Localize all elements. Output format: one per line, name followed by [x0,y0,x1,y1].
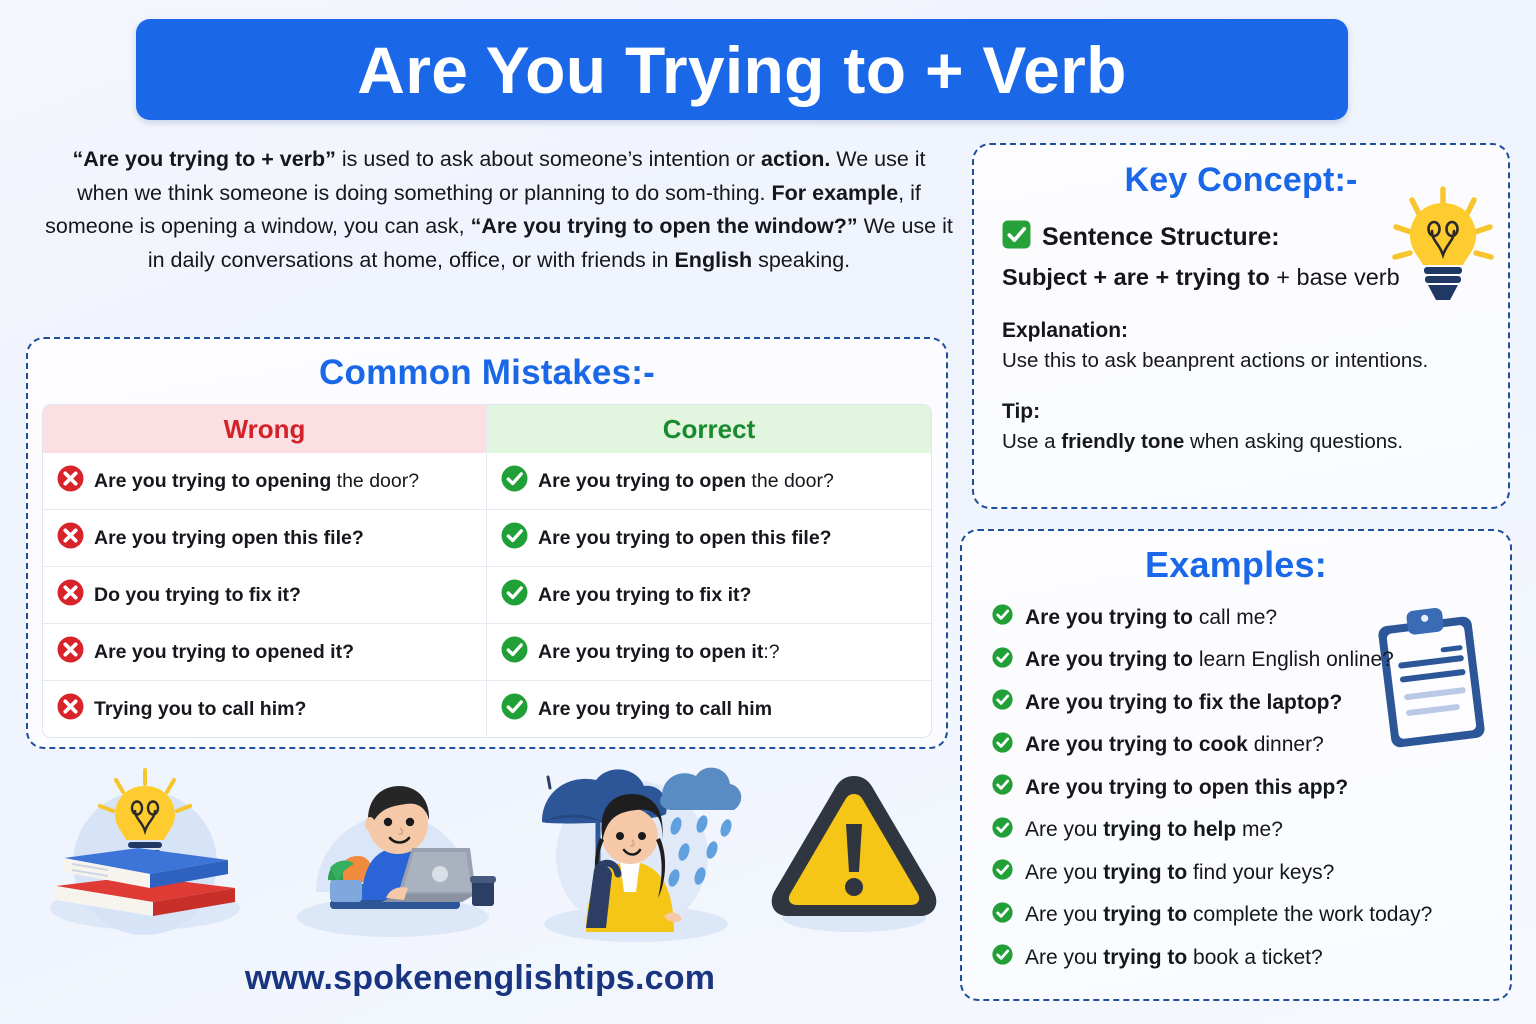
examples-list: Are you trying to call me?Are you trying… [992,596,1510,979]
example-sentence: Are you trying to help me? [1025,817,1283,842]
correct-sentence: Are you trying to open the door? [538,469,834,493]
green-check-icon [992,944,1013,970]
tip-label: Tip: [1002,400,1482,424]
sentence-structure-formula: Subject + are + trying to + base verb [1002,262,1482,293]
correct-sentence: Are you trying to call him [538,697,772,721]
table-cell-correct: Are you trying to fix it? [487,567,931,623]
person-at-laptop-illustration [286,752,501,947]
correct-column-label: Correct [663,414,755,445]
correct-sentence: Are you trying to open this file? [538,526,832,550]
red-cross-icon [57,636,84,668]
explanation-text: Use this to ask beanprent actions or int… [1002,348,1482,375]
table-row: Are you trying open this file?Are you tr… [43,509,931,566]
green-check-icon [992,774,1013,800]
example-sentence: Are you trying to open this app? [1025,775,1348,800]
green-check-icon [992,647,1013,673]
list-item: Are you trying to complete the work toda… [992,894,1510,937]
footer-website-url: www.spokenenglishtips.com [0,959,960,998]
books-with-lightbulb-illustration [38,758,253,943]
red-cross-icon [57,579,84,611]
common-mistakes-panel: Common Mistakes:- Wrong Correct Are you … [26,337,948,749]
example-sentence: Are you trying to cook dinner? [1025,732,1324,757]
green-check-icon [992,732,1013,758]
page-title: Are You Trying to + Verb [357,32,1126,108]
example-sentence: Are you trying to call me? [1025,605,1277,630]
wrong-sentence: Are you trying to opened it? [94,640,354,664]
list-item: Are you trying to call me? [992,596,1510,639]
list-item: Are you trying to learn English online? [992,639,1510,682]
list-item: Are you trying to cook dinner? [992,724,1510,767]
green-check-icon [992,689,1013,715]
wrong-sentence: Do you trying to fix it? [94,583,301,607]
green-check-icon [992,902,1013,928]
examples-heading: Examples: [962,544,1510,586]
list-item: Are you trying to book a ticket? [992,936,1510,979]
table-header-row: Wrong Correct [43,405,931,453]
red-cross-icon [57,693,84,725]
wrong-sentence: Trying you to call him? [94,697,306,721]
table-cell-correct: Are you trying to open the door? [487,453,931,509]
mistakes-table-body: Are you trying to opening the door?Are y… [43,453,931,737]
correct-sentence: Are you trying to open it:? [538,640,780,664]
green-check-icon [501,465,528,497]
tip-text: Use a friendly tone when asking question… [1002,429,1482,456]
table-header-correct: Correct [487,405,931,453]
example-sentence: Are you trying to find your keys? [1025,860,1334,885]
green-check-icon [992,817,1013,843]
wrong-sentence: Are you trying to opening the door? [94,469,419,493]
green-check-icon [501,693,528,725]
key-concept-panel: Key Concept:- [972,143,1510,509]
table-header-wrong: Wrong [43,405,487,453]
intro-paragraph: “Are you trying to + verb” is used to as… [44,143,954,277]
table-cell-correct: Are you trying to open it:? [487,624,931,680]
table-row: Trying you to call him?Are you trying to… [43,680,931,737]
table-cell-wrong: Are you trying open this file? [43,510,487,566]
table-cell-correct: Are you trying to call him [487,681,931,737]
common-mistakes-heading: Common Mistakes:- [28,353,946,393]
warning-triangle-illustration [766,766,941,939]
green-check-icon [992,859,1013,885]
sentence-structure-label: Sentence Structure: [1042,223,1280,252]
green-check-square-icon [1002,220,1031,254]
example-sentence: Are you trying to book a ticket? [1025,945,1323,970]
table-cell-wrong: Are you trying to opening the door? [43,453,487,509]
girl-with-umbrella-rain-illustration [524,752,749,952]
green-check-icon [992,604,1013,630]
table-row: Do you trying to fix it?Are you trying t… [43,566,931,623]
green-check-icon [501,522,528,554]
infographic-page: Are You Trying to + Verb “Are you trying… [0,0,1536,1024]
table-cell-wrong: Do you trying to fix it? [43,567,487,623]
table-cell-wrong: Are you trying to opened it? [43,624,487,680]
wrong-column-label: Wrong [224,414,306,445]
title-banner: Are You Trying to + Verb [136,19,1348,120]
sentence-structure-row: Sentence Structure: [1002,220,1482,254]
correct-sentence: Are you trying to fix it? [538,583,751,607]
red-cross-icon [57,465,84,497]
green-check-icon [501,636,528,668]
explanation-label: Explanation: [1002,319,1482,343]
list-item: Are you trying to fix the laptop? [992,681,1510,724]
table-cell-wrong: Trying you to call him? [43,681,487,737]
table-cell-correct: Are you trying to open this file? [487,510,931,566]
list-item: Are you trying to open this app? [992,766,1510,809]
example-sentence: Are you trying to fix the laptop? [1025,690,1342,715]
mistakes-table: Wrong Correct Are you trying to opening … [42,404,932,738]
red-cross-icon [57,522,84,554]
list-item: Are you trying to help me? [992,809,1510,852]
example-sentence: Are you trying to learn English online? [1025,647,1394,672]
list-item: Are you trying to find your keys? [992,851,1510,894]
key-concept-body: Sentence Structure: Subject + are + tryi… [974,200,1508,456]
table-row: Are you trying to opened it?Are you tryi… [43,623,931,680]
example-sentence: Are you trying to complete the work toda… [1025,902,1432,927]
examples-panel: Examples: [960,529,1512,1001]
green-check-icon [501,579,528,611]
wrong-sentence: Are you trying open this file? [94,526,364,550]
table-row: Are you trying to opening the door?Are y… [43,453,931,509]
